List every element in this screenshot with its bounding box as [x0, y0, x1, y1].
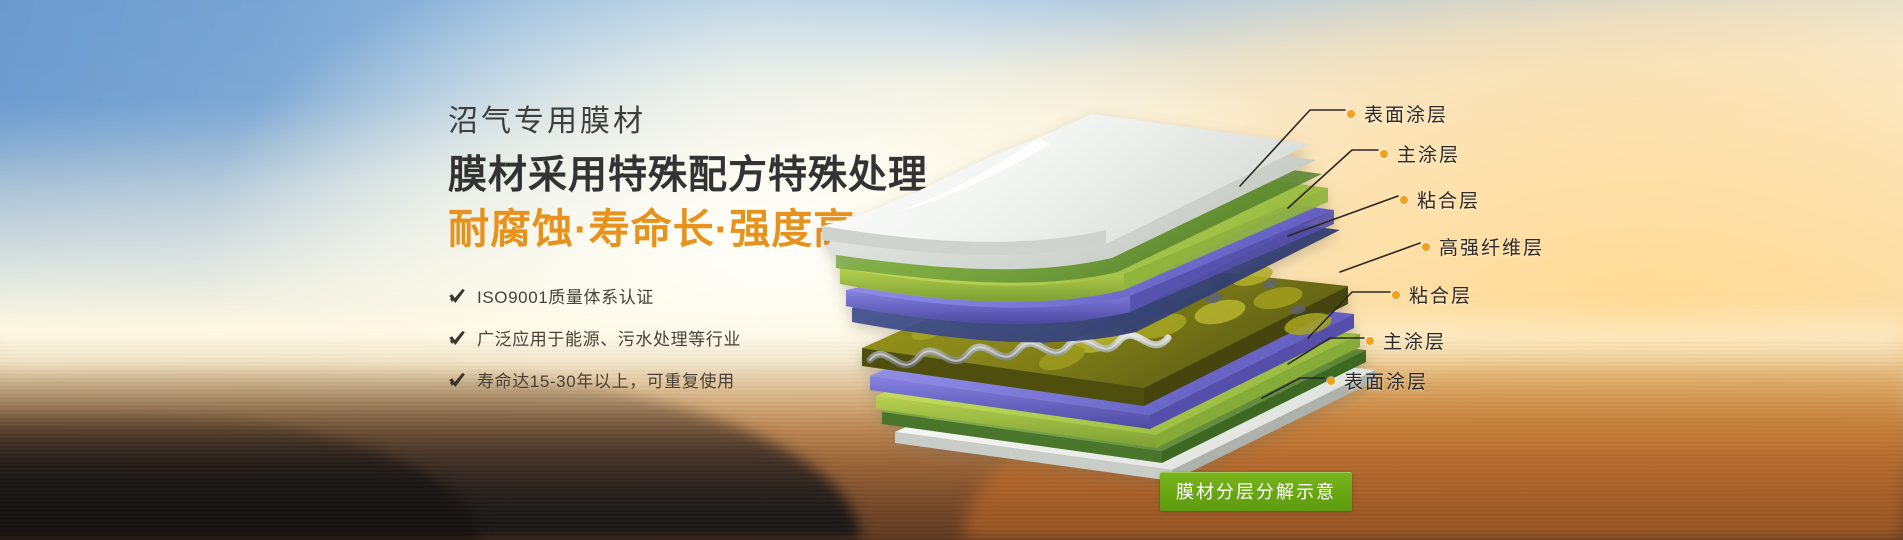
callout-main-coating-bottom[interactable]: 主涂层 — [1366, 327, 1446, 354]
list-item-label: ISO9001质量体系认证 — [477, 283, 654, 308]
callout-main-coating-top[interactable]: 主涂层 — [1380, 140, 1460, 167]
callout-label: 粘合层 — [1417, 186, 1480, 213]
bullet-dot-icon — [1400, 196, 1408, 204]
bullet-dot-icon — [1366, 337, 1374, 345]
callout-adhesive-layer-top[interactable]: 粘合层 — [1400, 186, 1480, 213]
list-item-label: 广泛应用于能源、污水处理等行业 — [477, 325, 741, 350]
diagram-caption-badge: 膜材分层分解示意 — [1160, 472, 1352, 511]
callout-adhesive-layer-bottom[interactable]: 粘合层 — [1392, 281, 1472, 308]
callout-label: 粘合层 — [1409, 281, 1472, 308]
list-item-label: 寿命达15-30年以上，可重复使用 — [477, 367, 735, 392]
callout-label: 主涂层 — [1397, 140, 1460, 167]
callout-surface-coating-bottom[interactable]: 表面涂层 — [1327, 367, 1428, 394]
callout-label: 表面涂层 — [1344, 367, 1428, 394]
callout-surface-coating-top[interactable]: 表面涂层 — [1347, 100, 1448, 127]
bullet-dot-icon — [1380, 150, 1388, 158]
callout-high-strength-fiber-layer[interactable]: 高强纤维层 — [1422, 233, 1544, 260]
bullet-dot-icon — [1422, 243, 1430, 251]
bullet-dot-icon — [1327, 377, 1335, 385]
promo-banner: 沼气专用膜材 膜材采用特殊配方特殊处理 耐腐蚀·寿命长·强度高 ISO9001质… — [0, 0, 1903, 540]
callout-label: 高强纤维层 — [1439, 233, 1544, 260]
check-icon — [448, 287, 466, 305]
callout-label: 表面涂层 — [1364, 100, 1448, 127]
bullet-dot-icon — [1392, 291, 1400, 299]
membrane-layers-illustration — [800, 40, 1440, 510]
check-icon — [448, 329, 466, 347]
bullet-dot-icon — [1347, 110, 1355, 118]
callout-label: 主涂层 — [1383, 327, 1446, 354]
check-icon — [448, 371, 466, 389]
